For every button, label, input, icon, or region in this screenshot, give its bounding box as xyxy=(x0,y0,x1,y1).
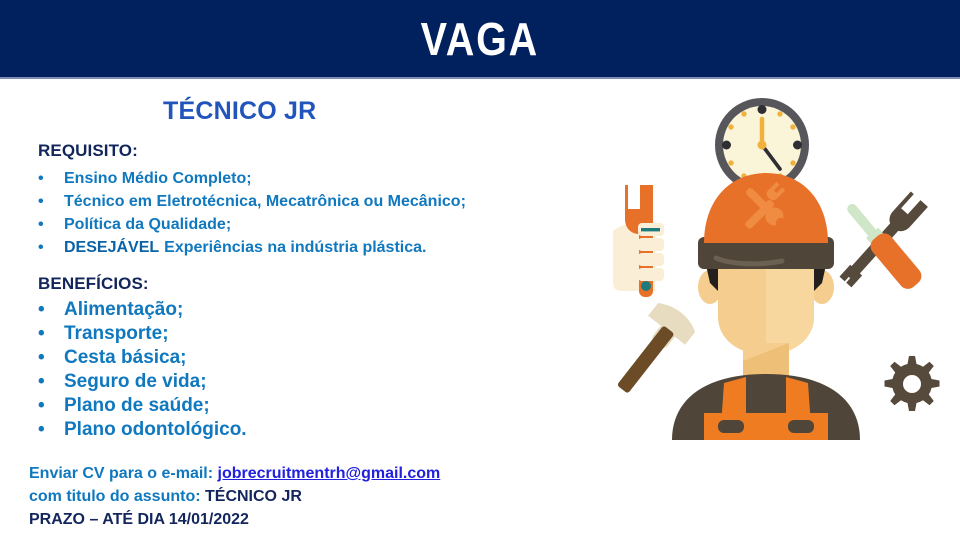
list-item: • Política da Qualidade; xyxy=(38,213,466,236)
benefit-text: Alimentação; xyxy=(64,298,183,322)
requirement-text: Experiências na indústria plástica. xyxy=(164,236,426,259)
footer-subject-value: TÉCNICO JR xyxy=(205,488,302,505)
header-band: VAGA xyxy=(0,0,960,77)
footer-email-label: Enviar CV para o e-mail: xyxy=(29,465,218,482)
footer-email-line: Enviar CV para o e-mail: jobrecruitmentr… xyxy=(29,462,440,485)
requirements-list: • Ensino Médio Completo; • Técnico em El… xyxy=(38,167,466,259)
benefit-text: Plano de saúde; xyxy=(64,394,210,418)
list-item: • Técnico em Eletrotécnica, Mecatrônica … xyxy=(38,190,466,213)
list-item: • DESEJÁVEL Experiências na indústria pl… xyxy=(38,236,466,259)
benefit-text: Cesta básica; xyxy=(64,346,187,370)
list-item: • Plano odontológico. xyxy=(38,418,247,442)
gear-icon xyxy=(885,356,940,411)
list-item: • Cesta básica; xyxy=(38,346,247,370)
requirement-text: Ensino Médio Completo; xyxy=(64,167,252,190)
bullet-icon: • xyxy=(38,213,64,236)
list-item: • Seguro de vida; xyxy=(38,370,247,394)
footer-deadline: PRAZO – ATÉ DIA 14/01/2022 xyxy=(29,508,440,531)
job-posting-content: TÉCNICO JR REQUISITO: • Ensino Médio Com… xyxy=(0,79,600,540)
benefit-text: Seguro de vida; xyxy=(64,370,207,394)
footer-subject-line: com titulo do assunto: TÉCNICO JR xyxy=(29,485,440,508)
bullet-icon: • xyxy=(38,370,64,394)
bullet-icon: • xyxy=(38,236,64,259)
job-title: TÉCNICO JR xyxy=(163,97,316,126)
page-title: VAGA xyxy=(421,16,539,62)
requirement-lead: DESEJÁVEL xyxy=(64,236,159,259)
requirement-text: Técnico em Eletrotécnica, Mecatrônica ou… xyxy=(64,190,466,213)
crossed-wrench-screwdriver-icon xyxy=(837,191,928,292)
benefit-text: Transporte; xyxy=(64,322,169,346)
requirement-text: Política da Qualidade; xyxy=(64,213,231,236)
bullet-icon: • xyxy=(38,322,64,346)
worker-with-tools-illustration xyxy=(600,95,960,440)
bullet-icon: • xyxy=(38,418,64,442)
bullet-icon: • xyxy=(38,394,64,418)
list-item: • Ensino Médio Completo; xyxy=(38,167,466,190)
hammer-icon xyxy=(603,298,700,403)
list-item: • Transporte; xyxy=(38,322,247,346)
benefits-heading: BENEFÍCIOS: xyxy=(38,274,149,294)
bullet-icon: • xyxy=(38,298,64,322)
hand-holding-wrench-icon xyxy=(613,185,664,297)
bullet-icon: • xyxy=(38,190,64,213)
list-item: • Alimentação; xyxy=(38,298,247,322)
bullet-icon: • xyxy=(38,346,64,370)
requirements-heading: REQUISITO: xyxy=(38,141,138,161)
email-link[interactable]: jobrecruitmentrh@gmail.com xyxy=(218,465,441,482)
contact-footer: Enviar CV para o e-mail: jobrecruitmentr… xyxy=(29,462,440,531)
worker-figure xyxy=(672,173,860,440)
benefits-list: • Alimentação; • Transporte; • Cesta bás… xyxy=(38,298,247,442)
list-item: • Plano de saúde; xyxy=(38,394,247,418)
benefit-text: Plano odontológico. xyxy=(64,418,247,442)
footer-subject-label: com titulo do assunto: xyxy=(29,488,205,505)
bullet-icon: • xyxy=(38,167,64,190)
